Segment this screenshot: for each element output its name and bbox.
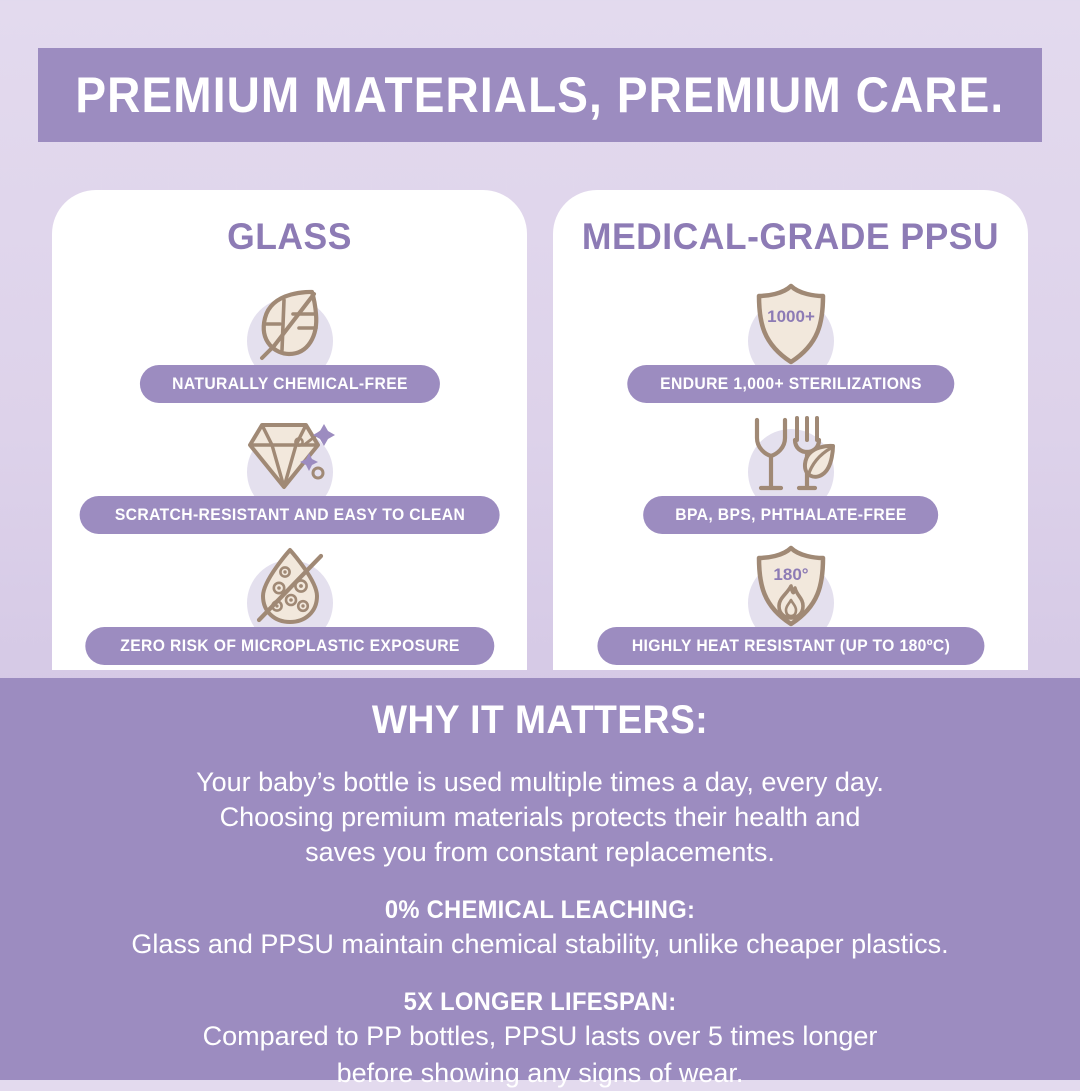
shield-flame-180-icon: 180° bbox=[734, 534, 848, 638]
block-heading: 5X LONGER LIFESPAN: bbox=[27, 988, 1053, 1017]
diamond-sparkle-icon bbox=[233, 403, 347, 507]
feature-label: BPA, BPS, PHTHALATE-FREE bbox=[675, 506, 906, 525]
feature-naturally-chemical-free: NATURALLY CHEMICAL-FREE bbox=[52, 272, 527, 403]
shield-icon-text: 180° bbox=[773, 565, 808, 584]
feature-zero-microplastic: ZERO RISK OF MICROPLASTIC EXPOSURE bbox=[52, 534, 527, 665]
feature-label: HIGHLY HEAT RESISTANT (UP TO 180ºC) bbox=[631, 637, 949, 656]
card-ppsu-features: 1000+ ENDURE 1,000+ STERILIZATIONS bbox=[553, 272, 1028, 665]
card-ppsu-title: MEDICAL-GRADE PPSU bbox=[563, 216, 1019, 258]
leaf-icon bbox=[233, 272, 347, 376]
feature-endure-sterilizations: 1000+ ENDURE 1,000+ STERILIZATIONS bbox=[553, 272, 1028, 403]
feature-pill[interactable]: BPA, BPS, PHTHALATE-FREE bbox=[643, 496, 939, 534]
block-body-line: before showing any signs of wear. bbox=[0, 1056, 1080, 1091]
feature-pill[interactable]: ENDURE 1,000+ STERILIZATIONS bbox=[627, 365, 954, 403]
paragraph-line: Choosing premium materials protects thei… bbox=[0, 800, 1080, 835]
card-medical-grade-ppsu: MEDICAL-GRADE PPSU 1000+ ENDURE 1,000+ S… bbox=[553, 190, 1028, 670]
block-heading: 0% CHEMICAL LEACHING: bbox=[27, 896, 1053, 925]
shield-icon-text: 1000+ bbox=[767, 307, 815, 326]
feature-heat-resistant: 180° HIGHLY HEAT RESISTANT (UP TO 180ºC) bbox=[553, 534, 1028, 665]
materials-cards: GLASS NATURALLY CHEMICAL-FREE bbox=[0, 190, 1080, 670]
page-title: PREMIUM MATERIALS, PREMIUM CARE. bbox=[76, 66, 1005, 124]
why-it-matters-title: WHY IT MATTERS: bbox=[38, 698, 1042, 743]
block-body-line: Glass and PPSU maintain chemical stabili… bbox=[0, 927, 1080, 962]
feature-bpa-free: BPA, BPS, PHTHALATE-FREE bbox=[553, 403, 1028, 534]
paragraph-line: Your baby’s bottle is used multiple time… bbox=[0, 765, 1080, 800]
block-longer-lifespan: 5X LONGER LIFESPAN: Compared to PP bottl… bbox=[0, 988, 1080, 1091]
block-body-line: Compared to PP bottles, PPSU lasts over … bbox=[0, 1019, 1080, 1054]
feature-pill[interactable]: ZERO RISK OF MICROPLASTIC EXPOSURE bbox=[85, 627, 494, 665]
why-it-matters-section: WHY IT MATTERS: Your baby’s bottle is us… bbox=[0, 678, 1080, 1080]
why-it-matters-paragraph: Your baby’s bottle is used multiple time… bbox=[0, 765, 1080, 870]
feature-scratch-resistant: SCRATCH-RESISTANT AND EASY TO CLEAN bbox=[52, 403, 527, 534]
feature-label: SCRATCH-RESISTANT AND EASY TO CLEAN bbox=[114, 506, 464, 525]
card-glass-features: NATURALLY CHEMICAL-FREE bbox=[52, 272, 527, 665]
shield-1000-icon: 1000+ bbox=[734, 272, 848, 376]
feature-label: ENDURE 1,000+ STERILIZATIONS bbox=[660, 375, 922, 394]
feature-label: NATURALLY CHEMICAL-FREE bbox=[172, 375, 408, 394]
no-microplastic-droplet-icon bbox=[233, 534, 347, 638]
paragraph-line: saves you from constant replacements. bbox=[0, 835, 1080, 870]
block-chemical-leaching: 0% CHEMICAL LEACHING: Glass and PPSU mai… bbox=[0, 896, 1080, 962]
feature-pill[interactable]: SCRATCH-RESISTANT AND EASY TO CLEAN bbox=[79, 496, 500, 534]
card-glass: GLASS NATURALLY CHEMICAL-FREE bbox=[52, 190, 527, 670]
card-glass-title: GLASS bbox=[62, 216, 518, 258]
food-safe-icon bbox=[734, 403, 848, 507]
feature-pill[interactable]: NATURALLY CHEMICAL-FREE bbox=[139, 365, 439, 403]
feature-label: ZERO RISK OF MICROPLASTIC EXPOSURE bbox=[120, 637, 460, 656]
header-banner: PREMIUM MATERIALS, PREMIUM CARE. bbox=[38, 48, 1042, 142]
feature-pill[interactable]: HIGHLY HEAT RESISTANT (UP TO 180ºC) bbox=[597, 627, 984, 665]
